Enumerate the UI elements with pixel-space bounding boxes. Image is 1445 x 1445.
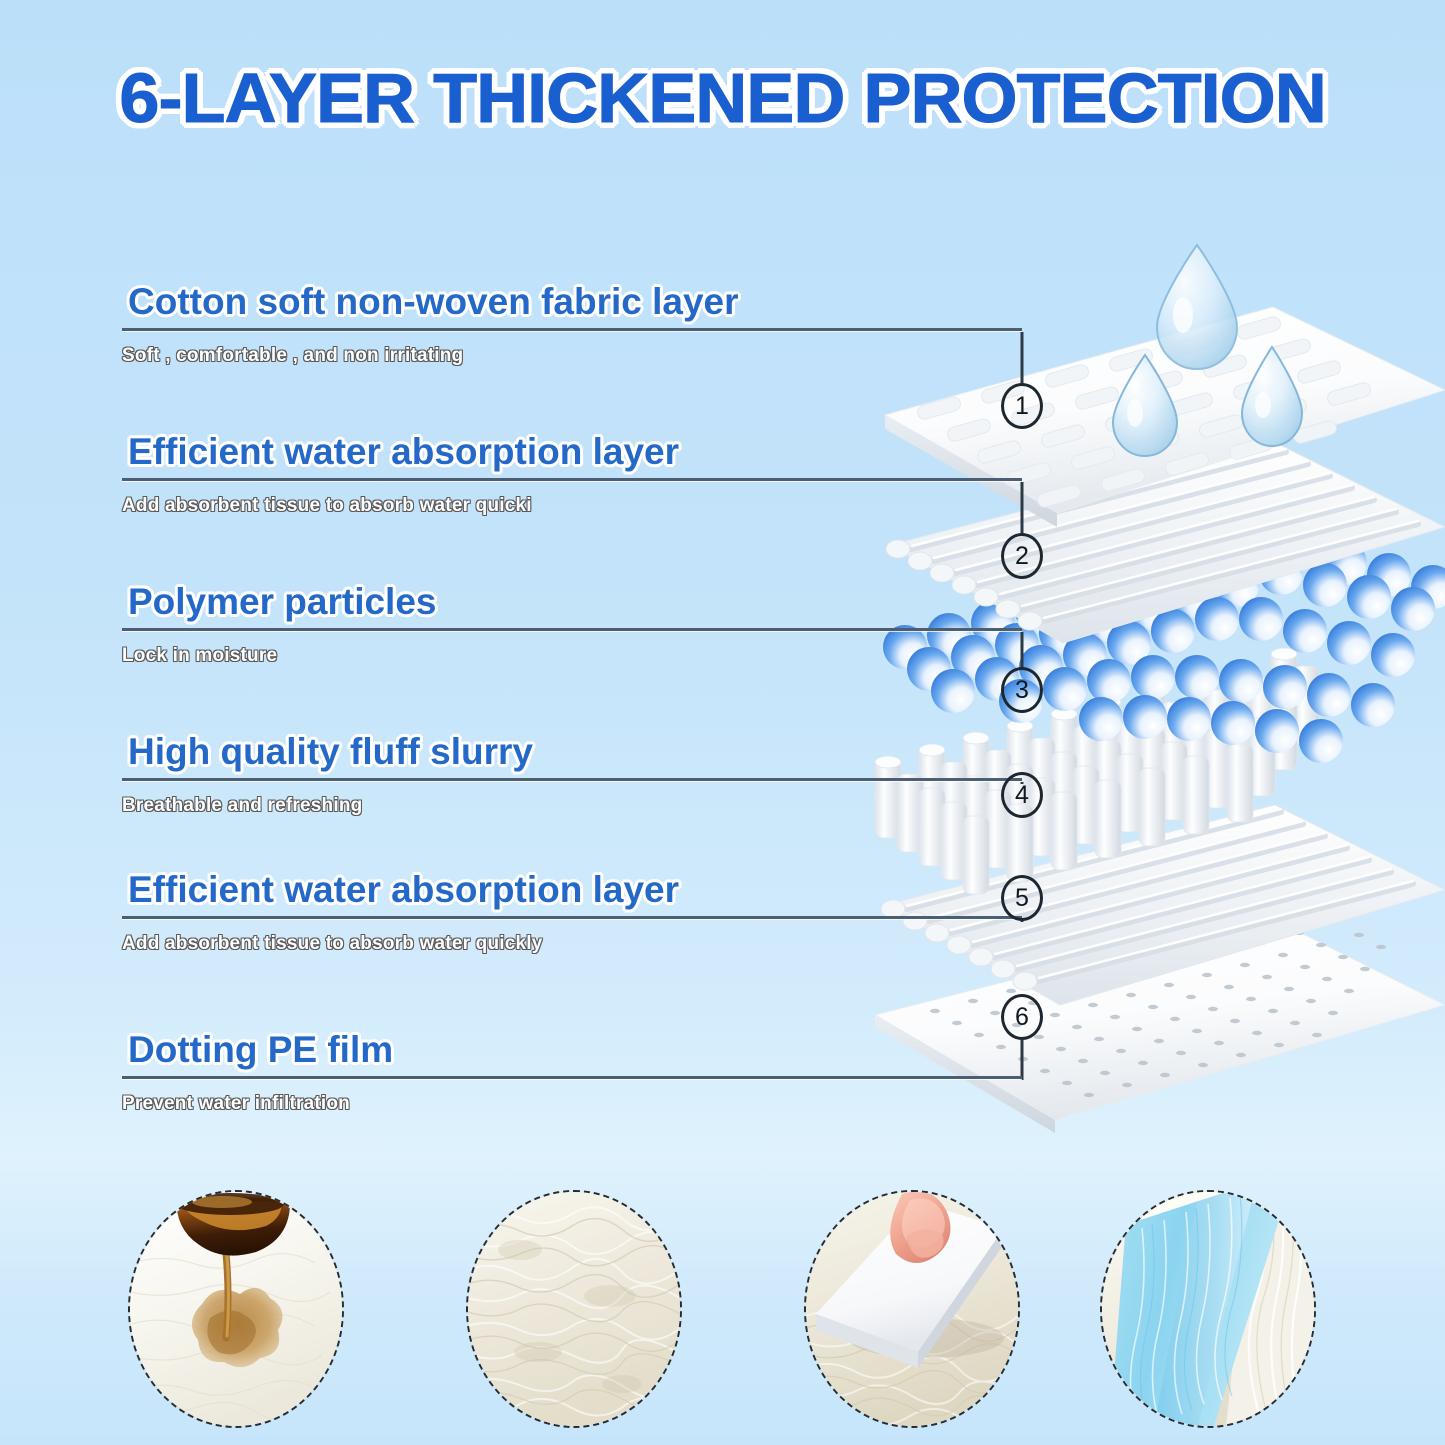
photo-fluff-pulp-texture[interactable]: [466, 1190, 682, 1428]
layer-marker-2[interactable]: 2: [1001, 533, 1043, 579]
layer-marker-4[interactable]: 4: [1001, 772, 1043, 818]
layer-6-subtitle: Prevent water infiltration: [122, 1093, 1022, 1115]
water-droplet-large: [1157, 245, 1237, 369]
layer-2-subtitle: Add absorbent tissue to absorb water qui…: [122, 495, 1022, 517]
layer-1-subtitle: Soft , comfortable , and non irritating: [122, 345, 1022, 367]
photo-4-art: [1102, 1192, 1314, 1426]
layer-block-2: Efficient water absorption layer Add abs…: [122, 433, 1022, 517]
layer-marker-4-number: 4: [1015, 781, 1029, 810]
layer-block-4: High quality fluff slurry Breathable and…: [122, 733, 1022, 817]
layer-marker-3-number: 3: [1015, 676, 1029, 705]
layer-5-subtitle: Add absorbent tissue to absorb water qui…: [122, 933, 1022, 955]
photo-liquid-absorption-test[interactable]: [128, 1190, 344, 1428]
photo-1-art: [130, 1192, 342, 1426]
product-infographic: 6-LAYER THICKENED PROTECTION: [0, 0, 1445, 1445]
product-photo-strip: [0, 1185, 1445, 1435]
photo-finger-press-test[interactable]: [804, 1190, 1020, 1428]
layer-marker-5-number: 5: [1015, 884, 1029, 913]
title-bar: 6-LAYER THICKENED PROTECTION: [0, 58, 1445, 138]
page-title: 6-LAYER THICKENED PROTECTION: [119, 58, 1325, 138]
layer-2-rule: [122, 478, 1022, 481]
layer-marker-1-number: 1: [1015, 392, 1029, 421]
photo-layered-material-edge[interactable]: [1100, 1190, 1316, 1428]
layer-marker-2-number: 2: [1015, 542, 1029, 571]
layer-marker-6[interactable]: 6: [1001, 994, 1043, 1040]
layer-marker-3[interactable]: 3: [1001, 667, 1043, 713]
layer-4-heading: High quality fluff slurry: [122, 733, 1022, 770]
layer-block-3: Polymer particles Lock in moisture: [122, 583, 1022, 667]
layer-3-subtitle: Lock in moisture: [122, 645, 1022, 667]
layer-5-heading: Efficient water absorption layer: [122, 871, 1022, 908]
layer-marker-1[interactable]: 1: [1001, 383, 1043, 429]
layer-3-heading: Polymer particles: [122, 583, 1022, 620]
layer-6-heading: Dotting PE film: [122, 1031, 1022, 1068]
layer-1-rule: [122, 328, 1022, 331]
photo-2-art: [468, 1192, 680, 1426]
layer-block-1: Cotton soft non-woven fabric layer Soft …: [122, 283, 1022, 367]
layer-5-rule: [122, 916, 1022, 919]
layer-1-heading: Cotton soft non-woven fabric layer: [122, 283, 1022, 320]
layer-2-heading: Efficient water absorption layer: [122, 433, 1022, 470]
layer-4-rule: [122, 778, 1022, 781]
layer-block-6: Dotting PE film Prevent water infiltrati…: [122, 1031, 1022, 1115]
layer-4-subtitle: Breathable and refreshing: [122, 795, 1022, 817]
layer-marker-6-number: 6: [1015, 1003, 1029, 1032]
layer-3-rule: [122, 628, 1022, 631]
photo-3-art: [806, 1192, 1018, 1426]
layer-6-rule: [122, 1076, 1022, 1079]
layer-block-5: Efficient water absorption layer Add abs…: [122, 871, 1022, 955]
layer-marker-5[interactable]: 5: [1001, 875, 1043, 921]
